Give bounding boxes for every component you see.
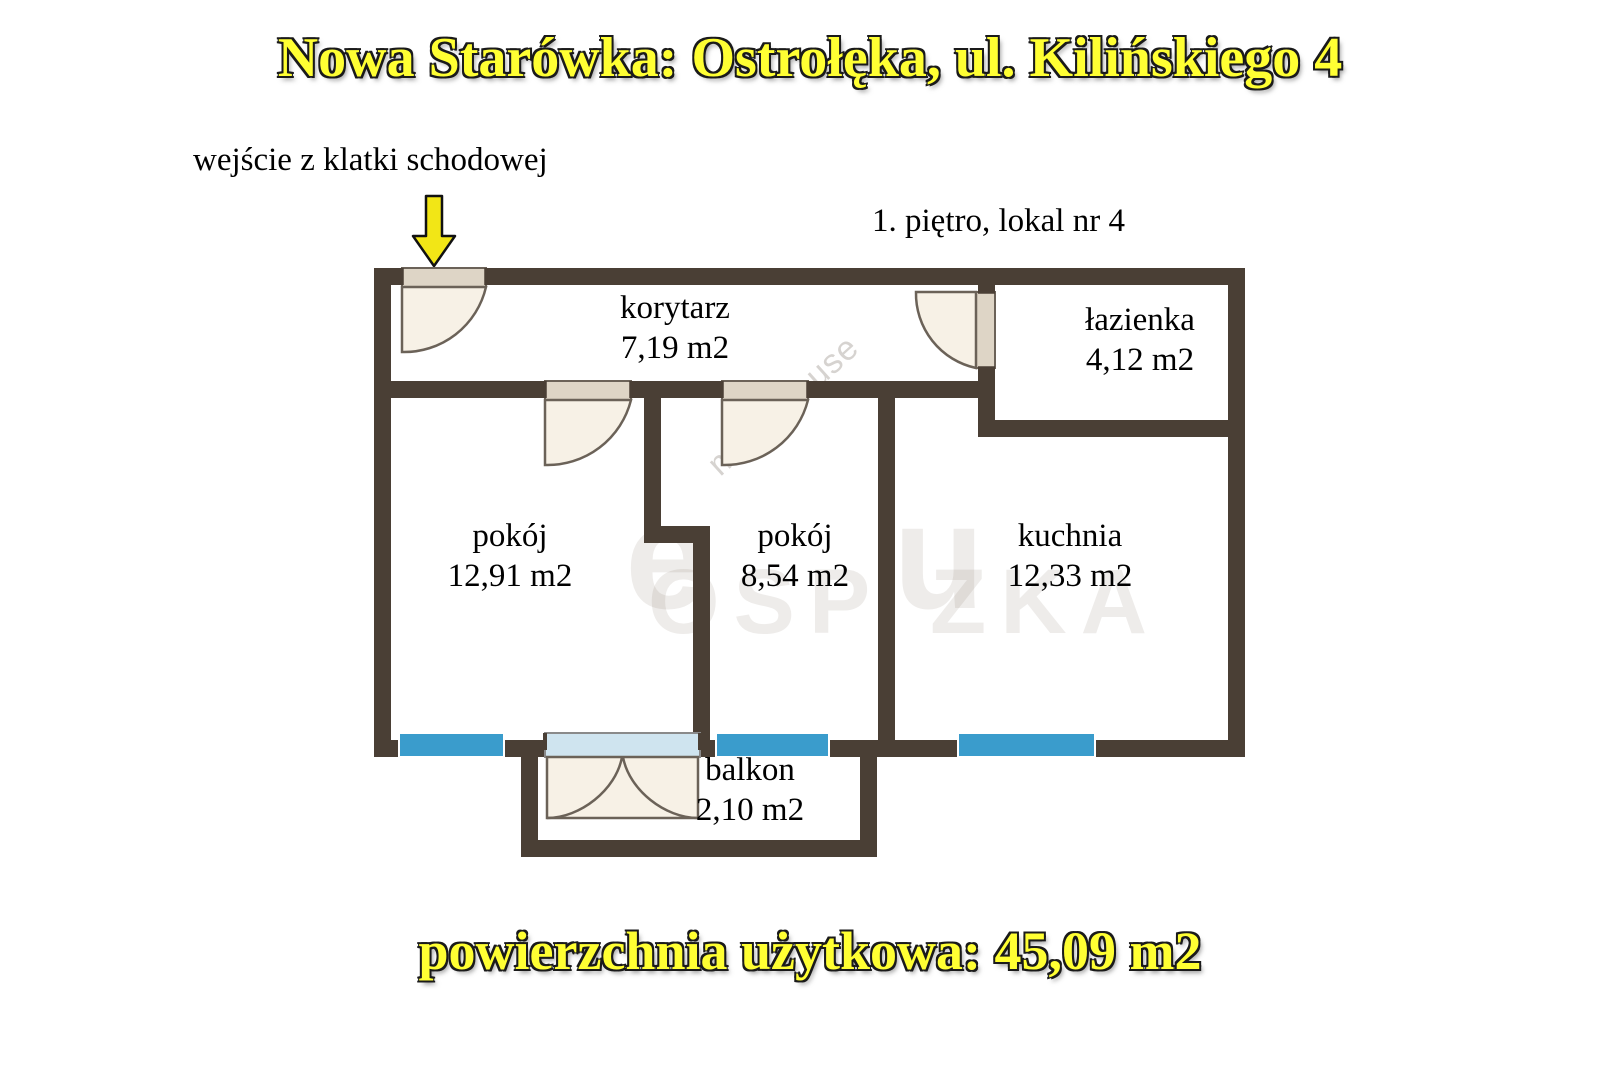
total-area-caption: powierzchnia użytkowa: 45,09 m2: [0, 920, 1620, 982]
entrance-door: [402, 268, 486, 352]
floor-plan-drawing: [0, 0, 1620, 1080]
room1-door: [545, 381, 631, 465]
entrance-arrow-icon: [413, 196, 455, 266]
walls: [374, 268, 1245, 857]
bathroom-door: [916, 292, 995, 368]
windows: [399, 733, 1095, 757]
room2-door: [722, 381, 808, 465]
balcony-door: [545, 733, 700, 818]
floor-plan-page: Nowa Starówka: Ostrołęka, ul. Kilińskieg…: [0, 0, 1620, 1080]
